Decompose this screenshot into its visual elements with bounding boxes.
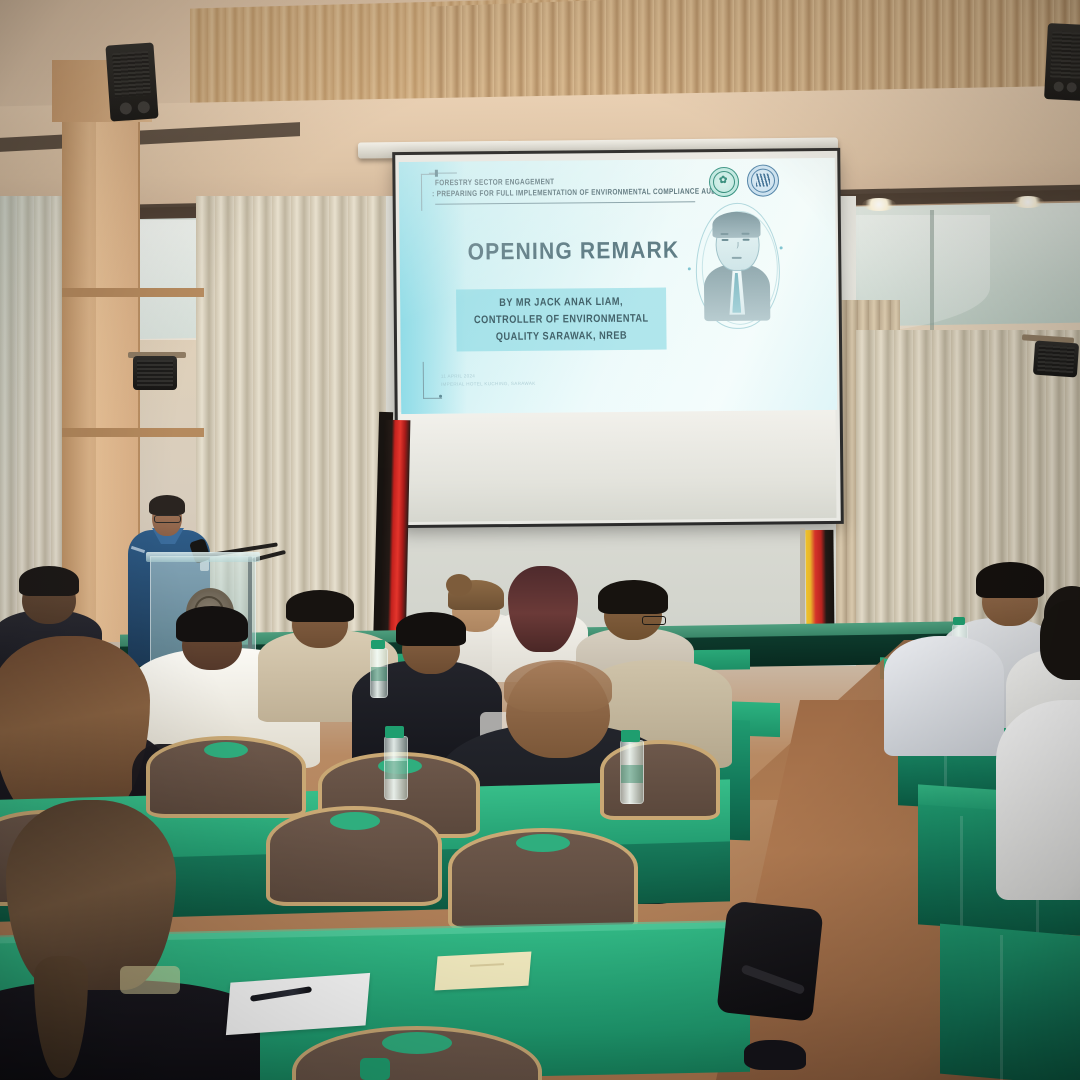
presenter-hair — [149, 495, 185, 515]
paper-sheet — [226, 973, 370, 1035]
wall-speaker-icon — [133, 356, 177, 390]
chair-back-notch — [382, 1032, 452, 1054]
audience-hair — [19, 566, 79, 596]
backpack — [716, 900, 823, 1021]
audience-eyeglasses-icon — [642, 616, 666, 625]
wall-speaker-icon — [1033, 341, 1079, 378]
notepad — [435, 951, 532, 990]
bottle-cap — [953, 617, 965, 625]
wall-speaker-icon — [1044, 23, 1080, 101]
audience-hair — [286, 590, 354, 622]
chair-back-notch — [516, 834, 570, 852]
audience-hair — [976, 562, 1044, 598]
pilaster-trim — [62, 288, 204, 297]
bottle-cap — [360, 1058, 390, 1080]
bottle-cap — [371, 640, 385, 649]
audience-hair — [176, 606, 248, 642]
audience-hair — [598, 580, 668, 614]
glass-mullion — [930, 210, 934, 330]
audience-member-seated — [996, 700, 1080, 900]
audience-hair — [396, 612, 466, 646]
chair-back-notch — [204, 742, 248, 758]
audience-hair — [6, 800, 176, 990]
presenter-eyeglasses-icon — [154, 515, 181, 523]
table-skirt-right-4 — [940, 924, 1080, 1080]
photo-scene: FORESTRY SECTOR ENGAGEMENT : PREPARING F… — [0, 0, 1080, 1080]
water-bottle — [620, 740, 644, 804]
audience-hair — [1040, 600, 1080, 680]
water-bottle — [370, 648, 388, 698]
banquet-chair — [600, 740, 720, 820]
audience-collar-accent — [120, 966, 180, 994]
pilaster-trim — [62, 428, 204, 437]
shoe — [744, 1040, 806, 1070]
sarawak-flag-left — [380, 420, 411, 650]
podium-top-surface — [146, 552, 260, 562]
downlight — [862, 198, 896, 211]
projection-screen-frame — [392, 148, 844, 528]
chair-back-notch — [330, 812, 380, 830]
audience-hair-long — [508, 566, 578, 652]
water-bottle — [384, 736, 408, 800]
bottle-cap — [621, 730, 640, 742]
wall-speaker-icon — [105, 42, 158, 121]
audience-member-seated — [884, 636, 1004, 756]
audience-head-bald-top — [504, 660, 612, 712]
downlight — [1012, 196, 1044, 208]
audience-hair-bun — [446, 574, 472, 596]
bottle-cap — [385, 726, 404, 738]
